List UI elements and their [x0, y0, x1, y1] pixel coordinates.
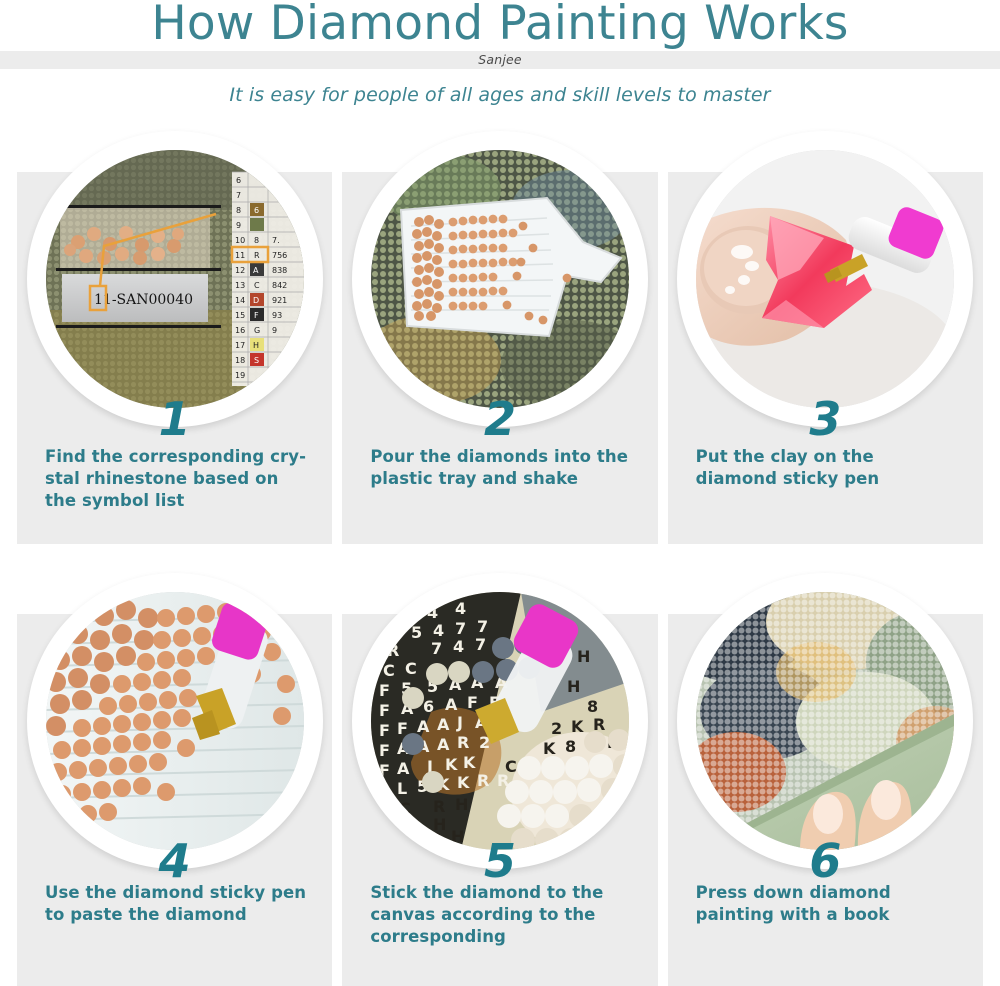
- svg-text:8: 8: [611, 789, 622, 808]
- svg-text:921: 921: [272, 296, 287, 305]
- svg-text:F: F: [379, 761, 390, 780]
- svg-text:J: J: [456, 713, 463, 732]
- svg-text:19: 19: [235, 371, 245, 380]
- svg-text:F: F: [379, 701, 390, 720]
- svg-text:842: 842: [272, 281, 287, 290]
- svg-text:7: 7: [455, 619, 466, 638]
- svg-text:4: 4: [427, 603, 438, 622]
- page-header: How Diamond Painting Works Sanjee It is …: [0, 0, 1000, 120]
- svg-text:16: 16: [235, 326, 245, 335]
- page-subtitle: It is easy for people of all ages and sk…: [0, 84, 1000, 106]
- svg-text:K: K: [457, 773, 470, 792]
- step-card-1[interactable]: 11-SAN00040: [17, 172, 332, 544]
- step-photo-6: [696, 592, 954, 850]
- svg-text:8: 8: [565, 737, 576, 756]
- svg-text:838: 838: [272, 266, 287, 275]
- step-number-5: 5: [342, 838, 657, 884]
- svg-text:R: R: [254, 251, 260, 260]
- svg-text:5: 5: [411, 623, 422, 642]
- svg-text:6: 6: [236, 176, 241, 185]
- svg-text:D: D: [253, 296, 259, 305]
- svg-text:R: R: [477, 771, 489, 790]
- step-card-5[interactable]: 44 5477 R747 CC F55AAA FA6AFF FFAAJAA FA…: [342, 614, 657, 986]
- step-photo-ring-4: [27, 573, 323, 869]
- brand-name: Sanjee: [0, 51, 1000, 69]
- step-photo-5: 44 5477 R747 CC F55AAA FA6AFF FFAAJAA FA…: [371, 592, 629, 850]
- step-number-3: 3: [668, 396, 983, 442]
- svg-text:756: 756: [272, 251, 287, 260]
- svg-text:C: C: [405, 659, 417, 678]
- svg-text:93: 93: [272, 311, 282, 320]
- step-photo-4: [46, 592, 304, 850]
- svg-text:R: R: [387, 641, 399, 660]
- step-photo-1: 11-SAN00040: [46, 150, 304, 408]
- svg-text:G: G: [254, 326, 260, 335]
- svg-text:A: A: [417, 717, 430, 736]
- svg-text:8: 8: [236, 206, 241, 215]
- svg-text:H: H: [567, 677, 580, 696]
- svg-text:F: F: [379, 681, 390, 700]
- svg-text:6: 6: [254, 206, 259, 215]
- step-caption-1: Find the corresponding cry-stal rhinesto…: [45, 446, 310, 512]
- steps-row-bottom: 4 Use the diamond sticky pen to paste th…: [0, 573, 1000, 986]
- step-card-2[interactable]: 2 Pour the diamonds into the plastic tra…: [342, 172, 657, 544]
- step-caption-6: Press down diamond painting with a book: [696, 882, 961, 926]
- step-number-4: 4: [17, 838, 332, 884]
- steps-grid: 11-SAN00040: [0, 131, 1000, 986]
- svg-text:F: F: [379, 721, 390, 740]
- step-card-3[interactable]: 3 Put the clay on the diamond sticky pen: [668, 172, 983, 544]
- step-card-6[interactable]: 6 Press down diamond painting with a boo…: [668, 614, 983, 986]
- svg-text:7: 7: [475, 635, 486, 654]
- step-number-1: 1: [17, 396, 332, 442]
- svg-text:L: L: [397, 779, 407, 798]
- step-number-2: 2: [342, 396, 657, 442]
- svg-text:7: 7: [431, 639, 442, 658]
- svg-text:A: A: [445, 695, 458, 714]
- svg-text:K: K: [571, 717, 584, 736]
- svg-text:A: A: [437, 715, 450, 734]
- svg-text:15: 15: [235, 311, 245, 320]
- step-number-6: 6: [668, 838, 983, 884]
- svg-text:H: H: [603, 817, 616, 836]
- svg-text:9: 9: [236, 221, 241, 230]
- step-photo-ring-6: [677, 573, 973, 869]
- svg-text:7: 7: [477, 617, 488, 636]
- svg-text:F: F: [379, 741, 390, 760]
- step-photo-ring-3: [677, 131, 973, 427]
- svg-text:H: H: [455, 795, 468, 814]
- svg-text:C: C: [399, 799, 411, 818]
- step-photo-3: [696, 150, 954, 408]
- svg-text:F: F: [254, 311, 259, 320]
- svg-text:4: 4: [433, 621, 444, 640]
- svg-text:H: H: [577, 647, 590, 666]
- svg-text:17: 17: [235, 341, 245, 350]
- svg-text:A: A: [377, 781, 390, 800]
- svg-text:11-SAN00040: 11-SAN00040: [94, 292, 193, 308]
- svg-text:A: A: [397, 759, 410, 778]
- step-card-4[interactable]: 4 Use the diamond sticky pen to paste th…: [17, 614, 332, 986]
- step-photo-ring-1: 11-SAN00040: [27, 131, 323, 427]
- svg-text:F: F: [397, 719, 408, 738]
- step-caption-5: Stick the diamond to the canvas accordin…: [370, 882, 635, 948]
- svg-text:6: 6: [423, 697, 434, 716]
- svg-text:C: C: [505, 757, 517, 776]
- svg-text:K: K: [463, 753, 476, 772]
- steps-row-top: 11-SAN00040: [0, 131, 1000, 544]
- page-title: How Diamond Painting Works: [0, 0, 1000, 51]
- svg-text:C: C: [254, 281, 260, 290]
- svg-text:7: 7: [236, 191, 241, 200]
- svg-text:12: 12: [235, 266, 245, 275]
- step-caption-4: Use the diamond sticky pen to paste the …: [45, 882, 310, 926]
- step-photo-ring-5: 44 5477 R747 CC F55AAA FA6AFF FFAAJAA FA…: [352, 573, 648, 869]
- svg-text:4: 4: [455, 599, 466, 618]
- svg-text:4: 4: [453, 637, 464, 656]
- svg-text:7.: 7.: [272, 236, 280, 245]
- svg-text:2: 2: [551, 719, 562, 738]
- step-caption-2: Pour the diamonds into the plastic tray …: [370, 446, 635, 490]
- svg-text:C: C: [383, 661, 395, 680]
- svg-text:R: R: [433, 797, 445, 816]
- svg-text:K: K: [543, 739, 556, 758]
- svg-text:9: 9: [272, 326, 277, 335]
- svg-text:13: 13: [235, 281, 245, 290]
- svg-text:10: 10: [235, 236, 245, 245]
- svg-text:18: 18: [235, 356, 245, 365]
- svg-text:A: A: [437, 735, 450, 754]
- svg-text:H: H: [253, 341, 259, 350]
- svg-text:14: 14: [235, 296, 245, 305]
- svg-text:A: A: [253, 266, 259, 275]
- svg-text:K: K: [445, 755, 458, 774]
- svg-text:S: S: [254, 356, 259, 365]
- svg-text:F: F: [467, 693, 478, 712]
- svg-text:8: 8: [254, 236, 259, 245]
- step-photo-ring-2: [352, 131, 648, 427]
- svg-text:8: 8: [587, 697, 598, 716]
- svg-text:C: C: [399, 817, 411, 836]
- svg-text:R: R: [457, 733, 469, 752]
- step-caption-3: Put the clay on the diamond sticky pen: [696, 446, 961, 490]
- svg-text:11: 11: [235, 251, 245, 260]
- step-photo-2: [371, 150, 629, 408]
